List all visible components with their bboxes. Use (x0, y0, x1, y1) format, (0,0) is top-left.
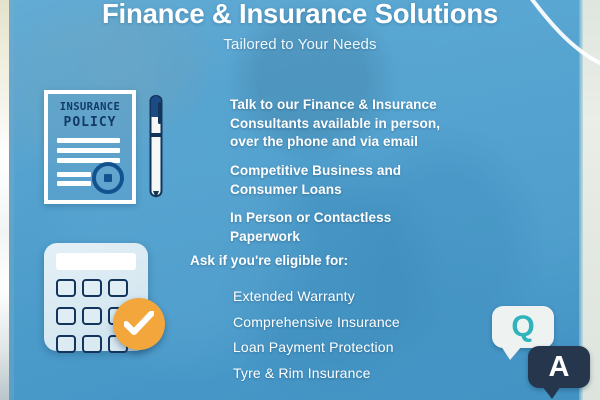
insurance-policy-document-icon: INSURANCE POLICY (44, 90, 136, 204)
question-letter: Q (492, 310, 554, 344)
document-text-line (57, 181, 91, 186)
answer-letter: A (528, 350, 590, 384)
eligibility-prompt: Ask if you're eligible for: (190, 253, 348, 268)
paperwork-paragraph: In Person or Contactless Paperwork (230, 209, 460, 246)
calculator-key (108, 279, 128, 297)
intro-paragraph: Talk to our Finance & Insurance Consulta… (230, 96, 470, 152)
list-item: Tyre & Rim Insurance (233, 361, 400, 387)
calculator-key (56, 307, 76, 325)
document-title-line-2: POLICY (48, 115, 132, 130)
document-text-line (57, 172, 91, 177)
qa-speech-bubbles: Q A (492, 306, 588, 394)
eligibility-list: Extended Warranty Comprehensive Insuranc… (233, 284, 400, 386)
document-text-line (57, 138, 120, 143)
calculator-key (82, 335, 102, 353)
document-title-line-1: INSURANCE (48, 101, 132, 113)
page-subtitle: Tailored to Your Needs (0, 36, 600, 53)
check-badge-icon (113, 298, 165, 350)
page-title: Finance & Insurance Solutions (0, 0, 600, 30)
document-body: INSURANCE POLICY (48, 94, 132, 200)
calculator-key (82, 307, 102, 325)
pen-icon (148, 93, 164, 200)
list-item: Comprehensive Insurance (233, 310, 400, 336)
calculator-key (82, 279, 102, 297)
left-edge-blue-strip (9, 0, 14, 400)
document-text-line (57, 148, 120, 153)
list-item: Loan Payment Protection (233, 335, 400, 361)
left-edge-photo-strip (0, 0, 9, 400)
question-bubble-icon: Q (492, 306, 554, 348)
answer-bubble-icon: A (528, 346, 590, 388)
document-seal-icon (92, 162, 124, 194)
calculator-key (56, 279, 76, 297)
list-item: Extended Warranty (233, 284, 400, 310)
promo-banner: Finance & Insurance Solutions Tailored t… (0, 0, 600, 400)
calculator-key (56, 335, 76, 353)
calculator-display (56, 253, 136, 270)
loans-paragraph: Competitive Business and Consumer Loans (230, 162, 460, 199)
